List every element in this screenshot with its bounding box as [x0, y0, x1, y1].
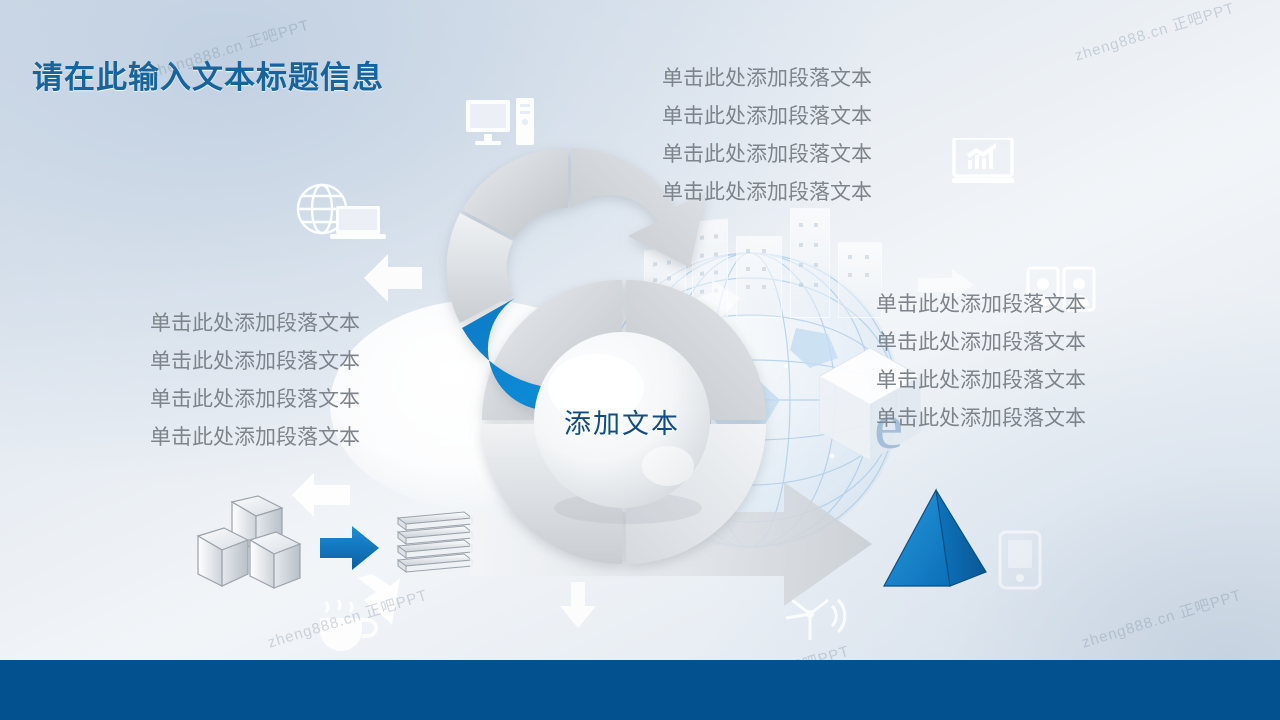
text-line: 单击此处添加段落文本: [150, 419, 360, 457]
text-line: 单击此处添加段落文本: [150, 305, 360, 343]
text-line: 单击此处添加段落文本: [662, 60, 872, 98]
text-line: 单击此处添加段落文本: [662, 98, 872, 136]
text-block-right: 单击此处添加段落文本 单击此处添加段落文本 单击此处添加段落文本 单击此处添加段…: [876, 286, 1086, 438]
text-line: 单击此处添加段落文本: [662, 136, 872, 174]
text-line: 单击此处添加段落文本: [662, 174, 872, 212]
text-line: 单击此处添加段落文本: [876, 400, 1086, 438]
footer-bar: [0, 660, 1280, 720]
text-line: 单击此处添加段落文本: [150, 381, 360, 419]
text-line: 单击此处添加段落文本: [876, 324, 1086, 362]
text-block-top: 单击此处添加段落文本 单击此处添加段落文本 单击此处添加段落文本 单击此处添加段…: [662, 60, 872, 212]
slide-canvas: e: [0, 0, 1280, 720]
center-sphere-label[interactable]: 添加文本: [492, 402, 752, 441]
text-line: 单击此处添加段落文本: [150, 343, 360, 381]
text-line: 单击此处添加段落文本: [876, 286, 1086, 324]
text-block-left: 单击此处添加段落文本 单击此处添加段落文本 单击此处添加段落文本 单击此处添加段…: [150, 305, 360, 457]
text-line: 单击此处添加段落文本: [876, 362, 1086, 400]
